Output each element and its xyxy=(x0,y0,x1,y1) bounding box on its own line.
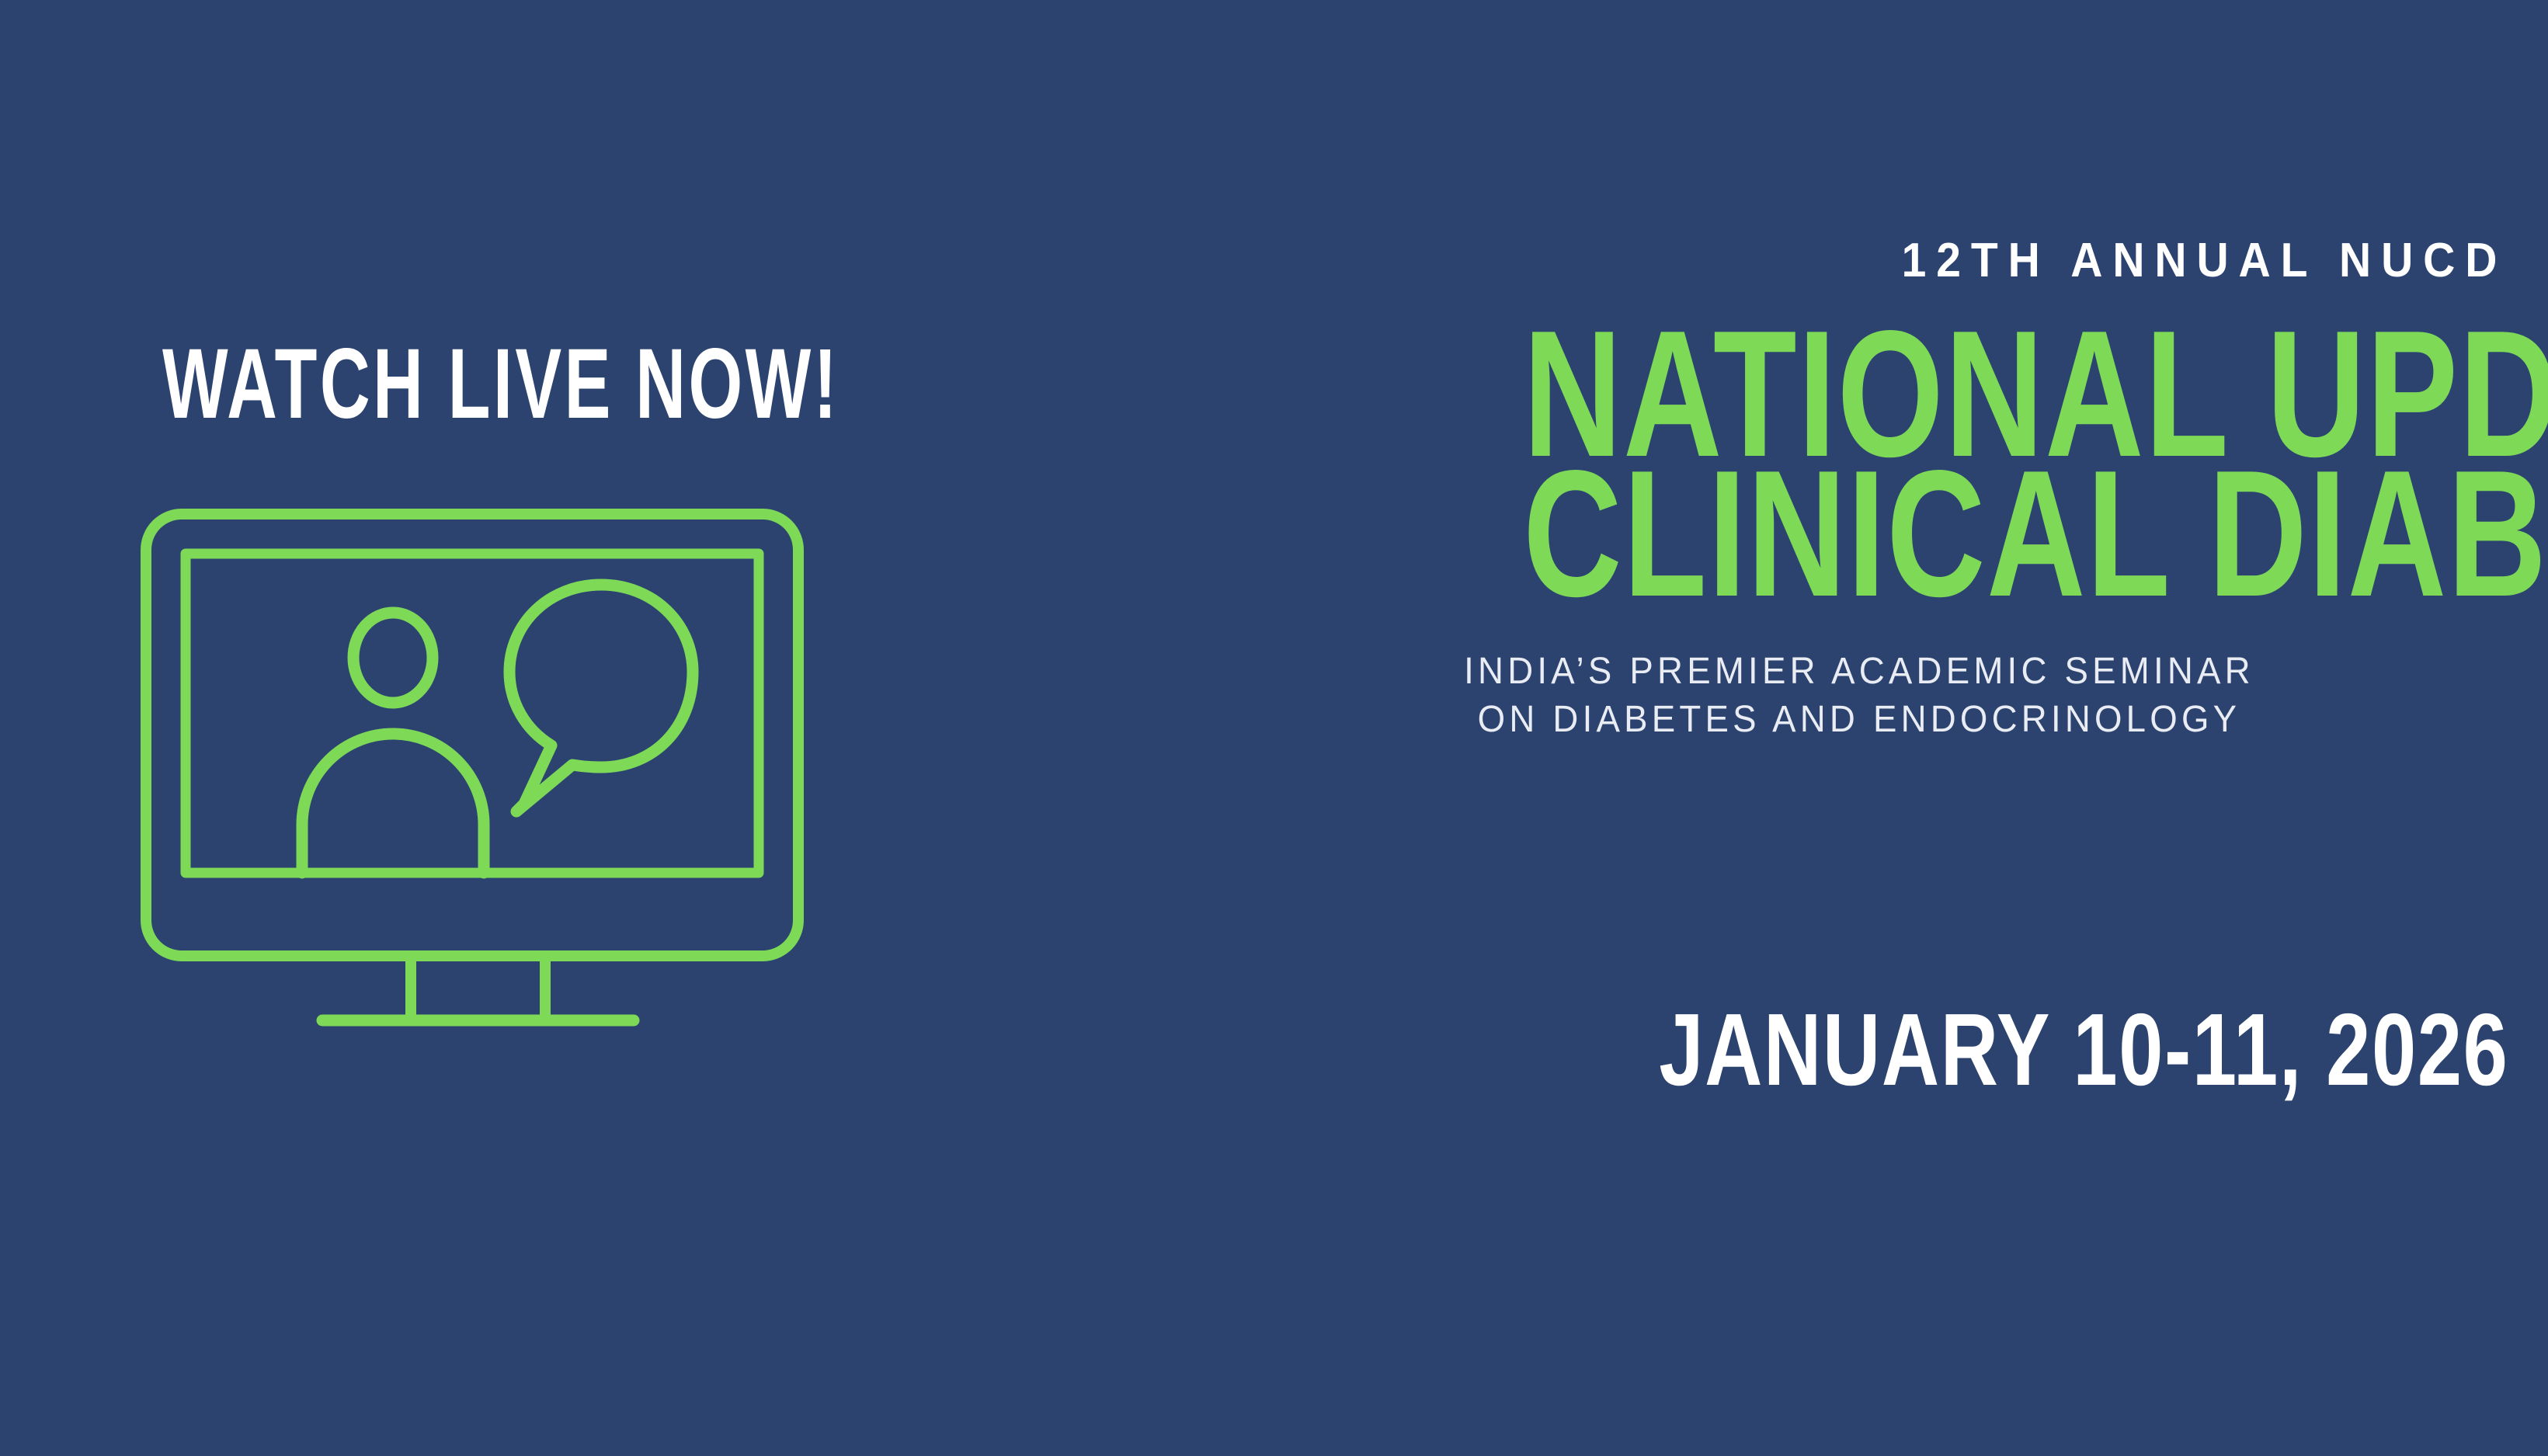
event-title-block: 12TH ANNUAL NUCD NATIONAL UPDATE ON CLIN… xyxy=(1211,233,2510,1100)
promo-banner: WATCH LIVE NOW! xyxy=(0,0,2548,1456)
watch-live-now-heading: WATCH LIVE NOW! xyxy=(162,342,597,427)
event-subtitle-line-2: ON DIABETES AND ENDOCRINOLOGY xyxy=(1244,696,2475,744)
event-subtitle: INDIA’S PREMIER ACADEMIC SEMINAR ON DIAB… xyxy=(1211,648,2510,744)
person-head-shape xyxy=(353,613,433,703)
left-content-block: WATCH LIVE NOW! xyxy=(141,342,839,1056)
event-eyebrow-label: 12TH ANNUAL NUCD xyxy=(1316,233,2510,289)
speech-bubble-shape xyxy=(509,585,693,811)
event-title-line-2: CLINICAL DIABETES xyxy=(1523,466,2510,603)
event-subtitle-line-1: INDIA’S PREMIER ACADEMIC SEMINAR xyxy=(1244,648,2475,696)
person-body-shape xyxy=(302,734,484,873)
webinar-monitor-icon xyxy=(141,509,808,1044)
monitor-frame-shape xyxy=(146,514,798,956)
event-date-label: JANUARY 10-11, 2026 xyxy=(1497,1000,2510,1100)
monitor-screen-shape xyxy=(186,554,759,873)
